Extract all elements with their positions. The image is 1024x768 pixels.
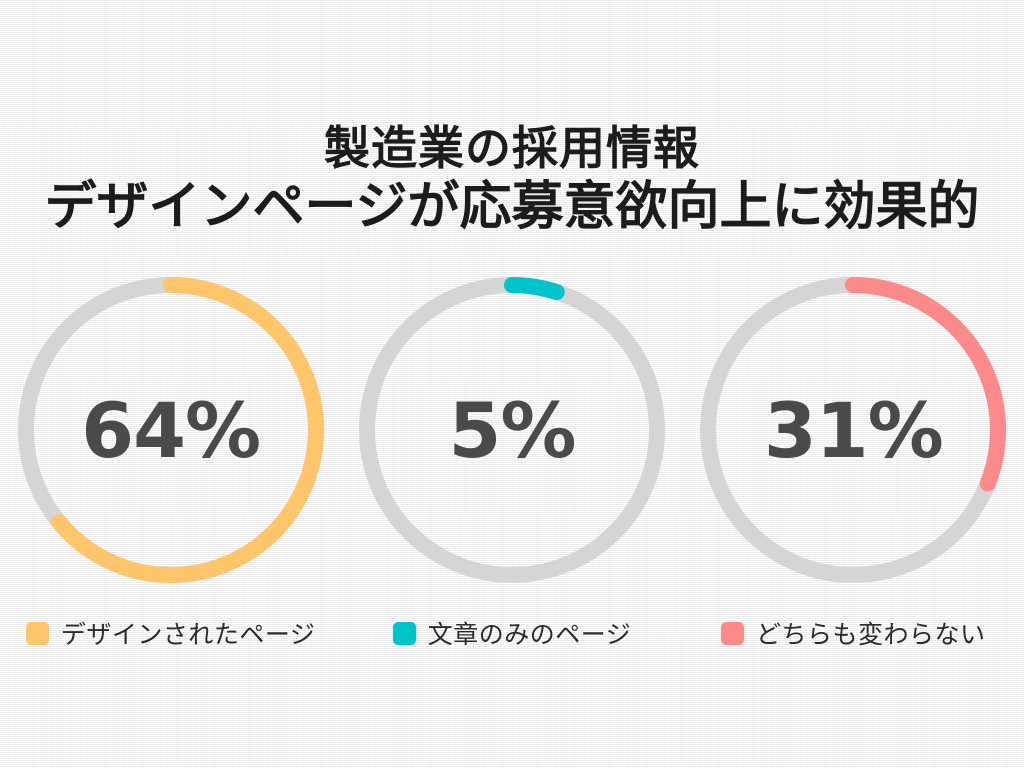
- title-line-1: 製造業の採用情報: [0, 120, 1024, 176]
- donut-chart-designed-page: 64%: [13, 272, 329, 588]
- legend-swatch-icon-no-difference: [721, 622, 744, 645]
- infographic-slide: 製造業の採用情報 デザインページが応募意欲向上に効果的 64% 5% 31%: [0, 0, 1024, 768]
- legend-swatch-icon-designed-page: [26, 622, 49, 645]
- chart-legend: デザインされたページ 文章のみのページ どちらも変わらない: [0, 610, 1024, 656]
- donut-svg-designed-page: [13, 272, 329, 588]
- legend-label-text-only-page: 文章のみのページ: [428, 615, 632, 651]
- donut-svg-no-difference: [695, 272, 1011, 588]
- legend-item-designed-page: デザインされたページ: [13, 615, 329, 651]
- donut-svg-text-only-page: [354, 272, 670, 588]
- legend-label-designed-page: デザインされたページ: [61, 615, 316, 651]
- legend-label-no-difference: どちらも変わらない: [756, 615, 986, 651]
- legend-item-text-only-page: 文章のみのページ: [354, 615, 670, 651]
- legend-swatch-icon-text-only-page: [393, 622, 416, 645]
- title-line-2: デザインページが応募意欲向上に効果的: [0, 176, 1024, 238]
- donut-track-text-only-page: [367, 285, 657, 575]
- legend-item-no-difference: どちらも変わらない: [695, 615, 1011, 651]
- donut-chart-no-difference: 31%: [695, 272, 1011, 588]
- donut-chart-row: 64% 5% 31%: [0, 272, 1024, 592]
- page-title: 製造業の採用情報 デザインページが応募意欲向上に効果的: [0, 120, 1024, 238]
- donut-chart-text-only-page: 5%: [354, 272, 670, 588]
